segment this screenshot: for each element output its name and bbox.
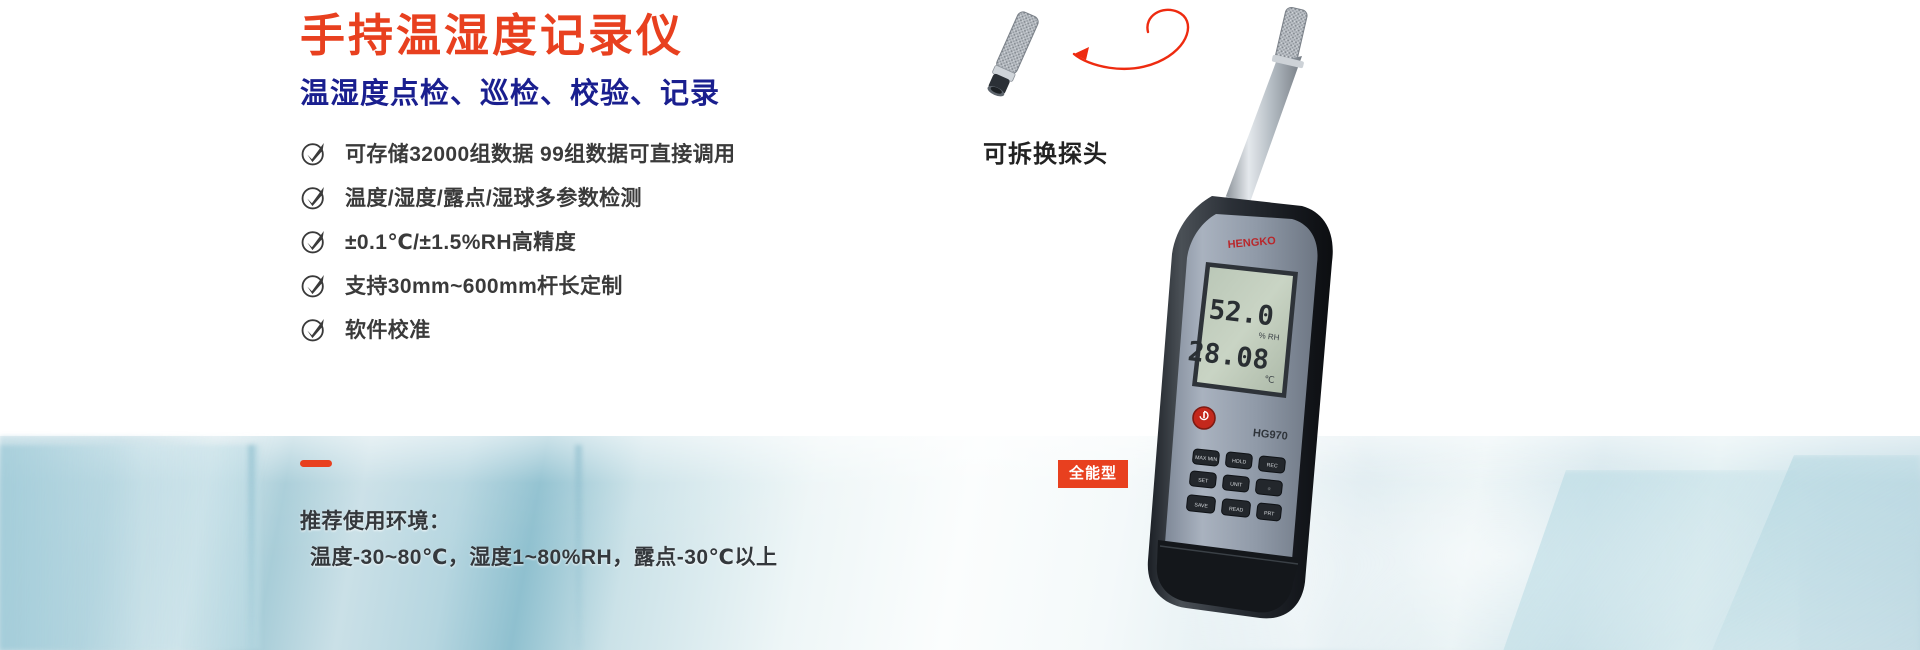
detachable-probe bbox=[984, 10, 1040, 99]
check-circle-icon bbox=[300, 227, 328, 255]
product-banner: 手持温湿度记录仪 温湿度点检、巡检、校验、记录 可存储32000组数据 99组数… bbox=[0, 0, 1920, 650]
feature-list: 可存储32000组数据 99组数据可直接调用 温度/湿度/露点/湿球多参数检测 … bbox=[300, 131, 1000, 351]
meter-body: HENGKO 52.0 % RH 28.08 ℃ HG970 bbox=[1148, 196, 1333, 618]
background-glass-left bbox=[0, 445, 260, 650]
list-item: 可存储32000组数据 99组数据可直接调用 bbox=[300, 131, 1000, 175]
svg-text:REC: REC bbox=[1266, 462, 1278, 469]
lcd-temperature-unit: ℃ bbox=[1264, 374, 1275, 385]
page-title: 手持温湿度记录仪 bbox=[300, 0, 1000, 58]
list-item-label: 软件校准 bbox=[345, 314, 431, 344]
list-item: 支持30mm~600mm杆长定制 bbox=[300, 263, 1000, 307]
list-item: 温度/湿度/露点/湿球多参数检测 bbox=[300, 175, 1000, 219]
page-subtitle: 温湿度点检、巡检、校验、记录 bbox=[300, 80, 1000, 109]
list-item: ±0.1℃/±1.5%RH高精度 bbox=[300, 219, 1000, 263]
product-image: HENGKO 52.0 % RH 28.08 ℃ HG970 bbox=[980, 0, 1480, 650]
list-item-label: 可存储32000组数据 99组数据可直接调用 bbox=[345, 138, 735, 168]
svg-text:SET: SET bbox=[1198, 477, 1209, 484]
list-item-label: ±0.1℃/±1.5%RH高精度 bbox=[345, 226, 576, 256]
environment-detail: 温度-30~80℃，湿度1~80%RH，露点-30℃以上 bbox=[300, 540, 1020, 576]
check-circle-icon bbox=[300, 271, 328, 299]
probe-rod bbox=[1218, 6, 1308, 232]
svg-text:PRT: PRT bbox=[1264, 510, 1276, 517]
list-item: 软件校准 bbox=[300, 307, 1000, 351]
copy-block: 手持温湿度记录仪 温湿度点检、巡检、校验、记录 可存储32000组数据 99组数… bbox=[300, 0, 1000, 351]
check-circle-icon bbox=[300, 139, 328, 167]
accent-dash bbox=[300, 460, 332, 467]
list-item-label: 支持30mm~600mm杆长定制 bbox=[345, 270, 623, 300]
environment-title: 推荐使用环境： bbox=[300, 504, 1020, 540]
check-circle-icon bbox=[300, 183, 328, 211]
list-item-label: 温度/湿度/露点/湿球多参数检测 bbox=[345, 182, 642, 212]
environment-block: 推荐使用环境： 温度-30~80℃，湿度1~80%RH，露点-30℃以上 bbox=[300, 460, 1020, 576]
background-seam-1 bbox=[248, 445, 255, 650]
check-circle-icon bbox=[300, 315, 328, 343]
svg-text:☼: ☼ bbox=[1266, 486, 1272, 492]
